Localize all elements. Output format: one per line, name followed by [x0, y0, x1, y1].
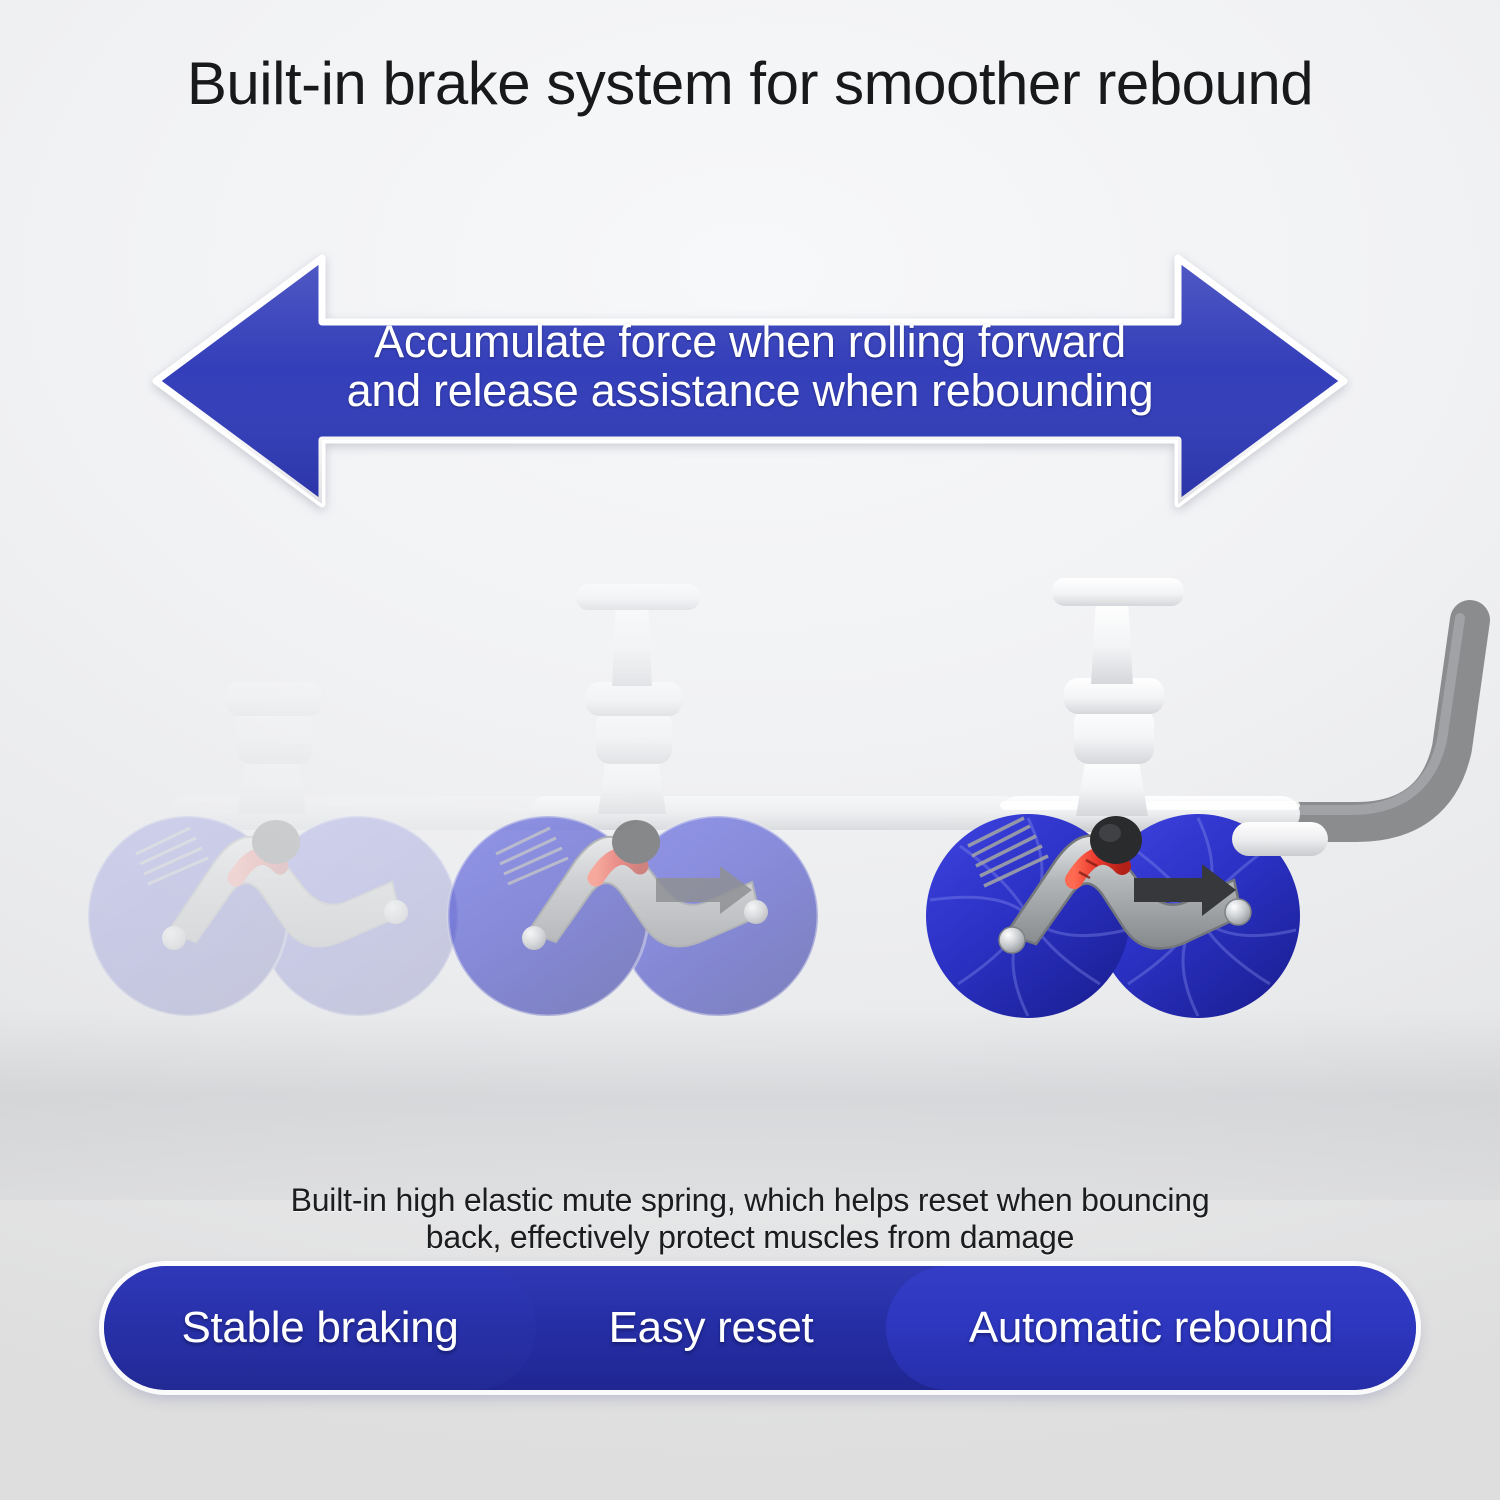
feature-badge-stable-braking[interactable]: Stable braking	[104, 1266, 536, 1390]
bidirectional-arrow-banner	[150, 252, 1350, 510]
feature-caption: Built-in high elastic mute spring, which…	[150, 1182, 1350, 1257]
feature-badge-bar: Stable braking Easy reset Automatic rebo…	[104, 1266, 1416, 1390]
feature-badge-label: Stable braking	[181, 1303, 458, 1353]
product-infographic-poster: Built-in brake system for smoother rebou…	[0, 0, 1500, 1500]
feature-badge-easy-reset[interactable]: Easy reset	[492, 1266, 930, 1390]
handlebar-icon	[1232, 620, 1470, 822]
roller-unit	[926, 578, 1470, 1018]
product-illustration	[0, 560, 1500, 1100]
feature-badge-automatic-rebound[interactable]: Automatic rebound	[886, 1266, 1416, 1390]
feature-badge-label: Easy reset	[609, 1303, 814, 1353]
feature-badge-label: Automatic rebound	[969, 1303, 1333, 1353]
caption-line-2: back, effectively protect muscles from d…	[150, 1219, 1350, 1256]
top-crossbar	[1052, 578, 1184, 606]
page-title: Built-in brake system for smoother rebou…	[0, 52, 1500, 115]
double-arrow-icon	[150, 252, 1350, 510]
product-stage-solid-near	[880, 560, 1500, 1100]
caption-line-1: Built-in high elastic mute spring, which…	[291, 1182, 1210, 1218]
